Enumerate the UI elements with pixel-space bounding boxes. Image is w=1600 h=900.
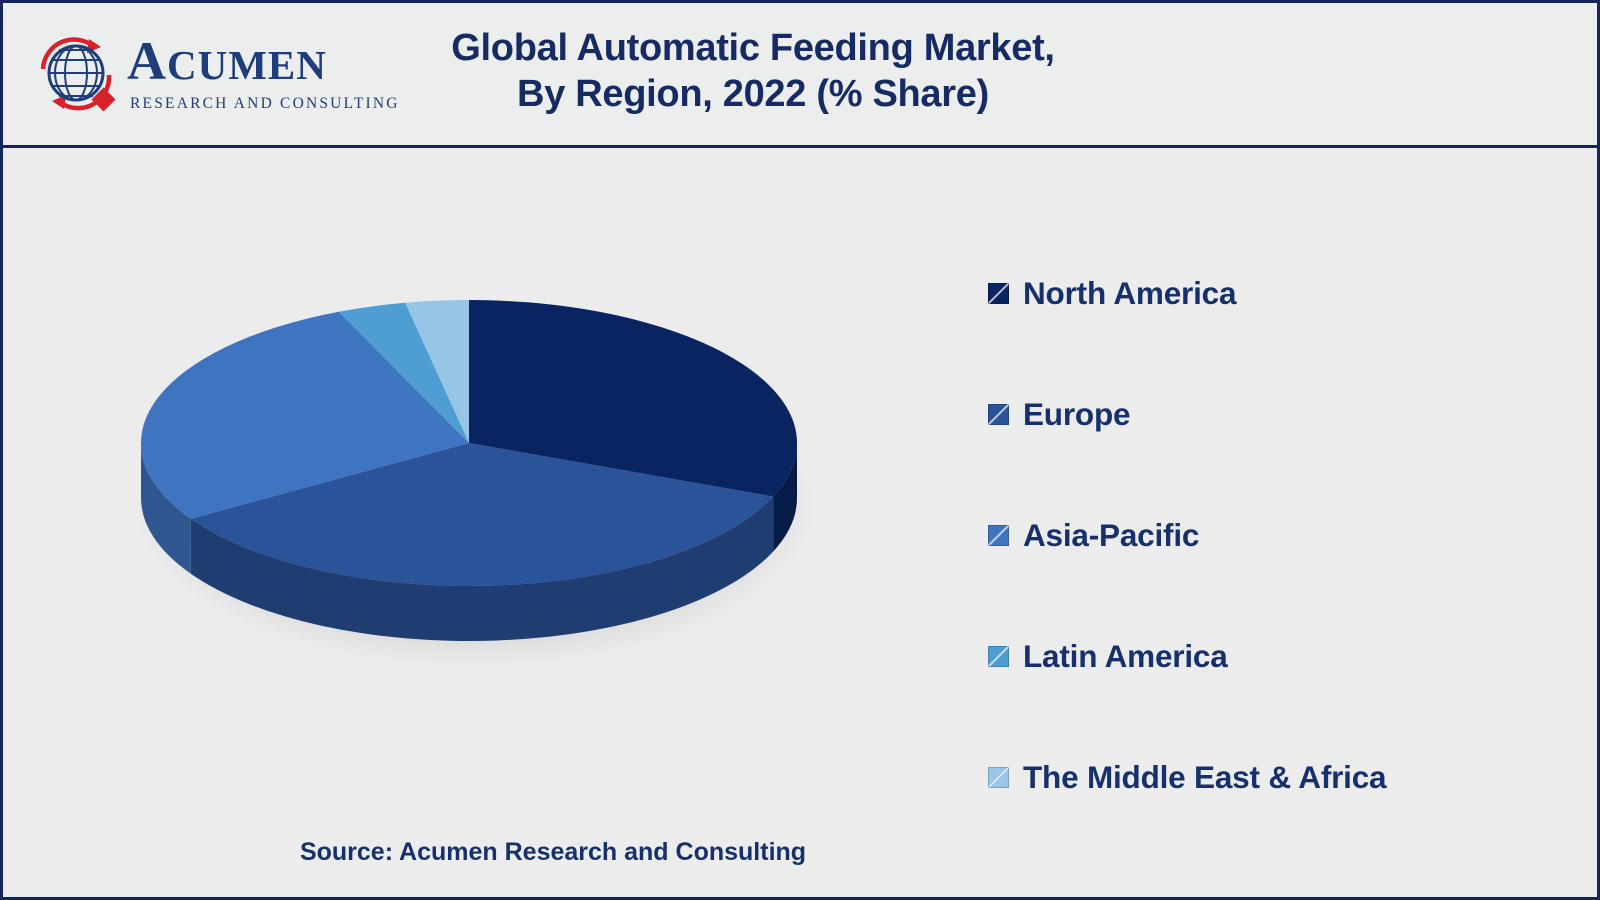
globe-icon (31, 29, 123, 121)
legend-label: Asia-Pacific (1023, 517, 1199, 554)
chart-card: ACUMEN RESEARCH AND CONSULTING Global Au… (0, 0, 1600, 900)
chart-legend: North AmericaEuropeAsia-PacificLatin Ame… (988, 233, 1548, 838)
legend-swatch-icon (988, 525, 1009, 546)
legend-swatch-icon (988, 404, 1009, 425)
brand-name-rest: CUMEN (167, 42, 327, 88)
brand-name-initial: A (127, 31, 167, 91)
legend-swatch-icon (988, 283, 1009, 304)
legend-label: The Middle East & Africa (1023, 759, 1386, 796)
pie-chart-svg (93, 258, 893, 758)
brand-name: ACUMEN (127, 33, 377, 93)
brand-logo: ACUMEN RESEARCH AND CONSULTING (31, 27, 371, 127)
legend-label: North America (1023, 275, 1236, 312)
source-note: Source: Acumen Research and Consulting (3, 838, 1103, 867)
brand-tagline: RESEARCH AND CONSULTING (127, 95, 377, 113)
legend-item[interactable]: The Middle East & Africa (988, 717, 1548, 838)
pie-top-slices (141, 300, 797, 586)
legend-item[interactable]: Europe (988, 354, 1548, 475)
page-title-line-1: Global Automatic Feeding Market, (383, 25, 1123, 71)
page-title: Global Automatic Feeding Market, By Regi… (383, 25, 1123, 117)
legend-label: Europe (1023, 396, 1130, 433)
chart-body: North AmericaEuropeAsia-PacificLatin Ame… (3, 148, 1597, 900)
legend-swatch-icon (988, 767, 1009, 788)
legend-item[interactable]: Latin America (988, 596, 1548, 717)
legend-label: Latin America (1023, 638, 1228, 675)
legend-item[interactable]: North America (988, 233, 1548, 354)
brand-wordmark: ACUMEN RESEARCH AND CONSULTING (127, 33, 377, 113)
page-title-line-2: By Region, 2022 (% Share) (383, 71, 1123, 117)
pie-chart (93, 258, 893, 758)
legend-swatch-icon (988, 646, 1009, 667)
legend-item[interactable]: Asia-Pacific (988, 475, 1548, 596)
header-bar: ACUMEN RESEARCH AND CONSULTING Global Au… (3, 3, 1597, 148)
